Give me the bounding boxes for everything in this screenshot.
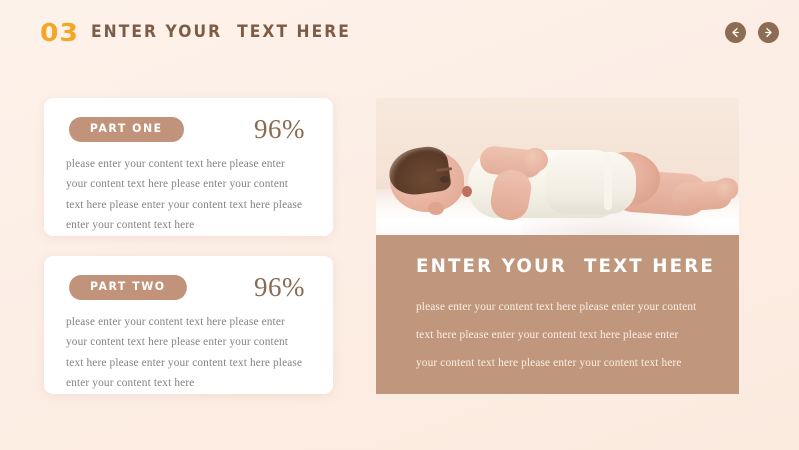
baby-illustration	[376, 98, 739, 235]
card-badge: PART TWO	[69, 275, 186, 300]
arrow-right-icon	[763, 27, 774, 38]
card-badge: PART ONE	[69, 117, 184, 142]
slide-header: 03 ENTER YOUR TEXT HERE	[40, 20, 367, 45]
card-header: PART ONE 96%	[66, 116, 311, 143]
prev-button[interactable]	[725, 22, 746, 43]
next-button[interactable]	[758, 22, 779, 43]
card-header: PART TWO 96%	[66, 274, 311, 301]
content-card-part-one[interactable]: PART ONE 96% please enter your content t…	[44, 98, 333, 236]
panel-body-text: please enter your content text here plea…	[416, 293, 709, 377]
content-card-part-two[interactable]: PART TWO 96% please enter your content t…	[44, 256, 333, 394]
slide-root: 03 ENTER YOUR TEXT HERE PART ONE 96% ple…	[0, 0, 799, 450]
card-percent: 96%	[254, 274, 305, 301]
card-percent: 96%	[254, 116, 305, 143]
card-body-text: please enter your content text here plea…	[66, 154, 311, 236]
panel-title: ENTER YOUR TEXT HERE	[416, 257, 697, 276]
baby-photo	[376, 98, 739, 235]
page-title: ENTER YOUR TEXT HERE	[91, 24, 351, 41]
nav-controls	[725, 22, 779, 43]
right-panel: ENTER YOUR TEXT HERE please enter your c…	[376, 98, 739, 394]
slide-number: 03	[40, 20, 79, 45]
arrow-left-icon	[730, 27, 741, 38]
card-body-text: please enter your content text here plea…	[66, 312, 311, 394]
panel-content: ENTER YOUR TEXT HERE please enter your c…	[376, 235, 739, 394]
